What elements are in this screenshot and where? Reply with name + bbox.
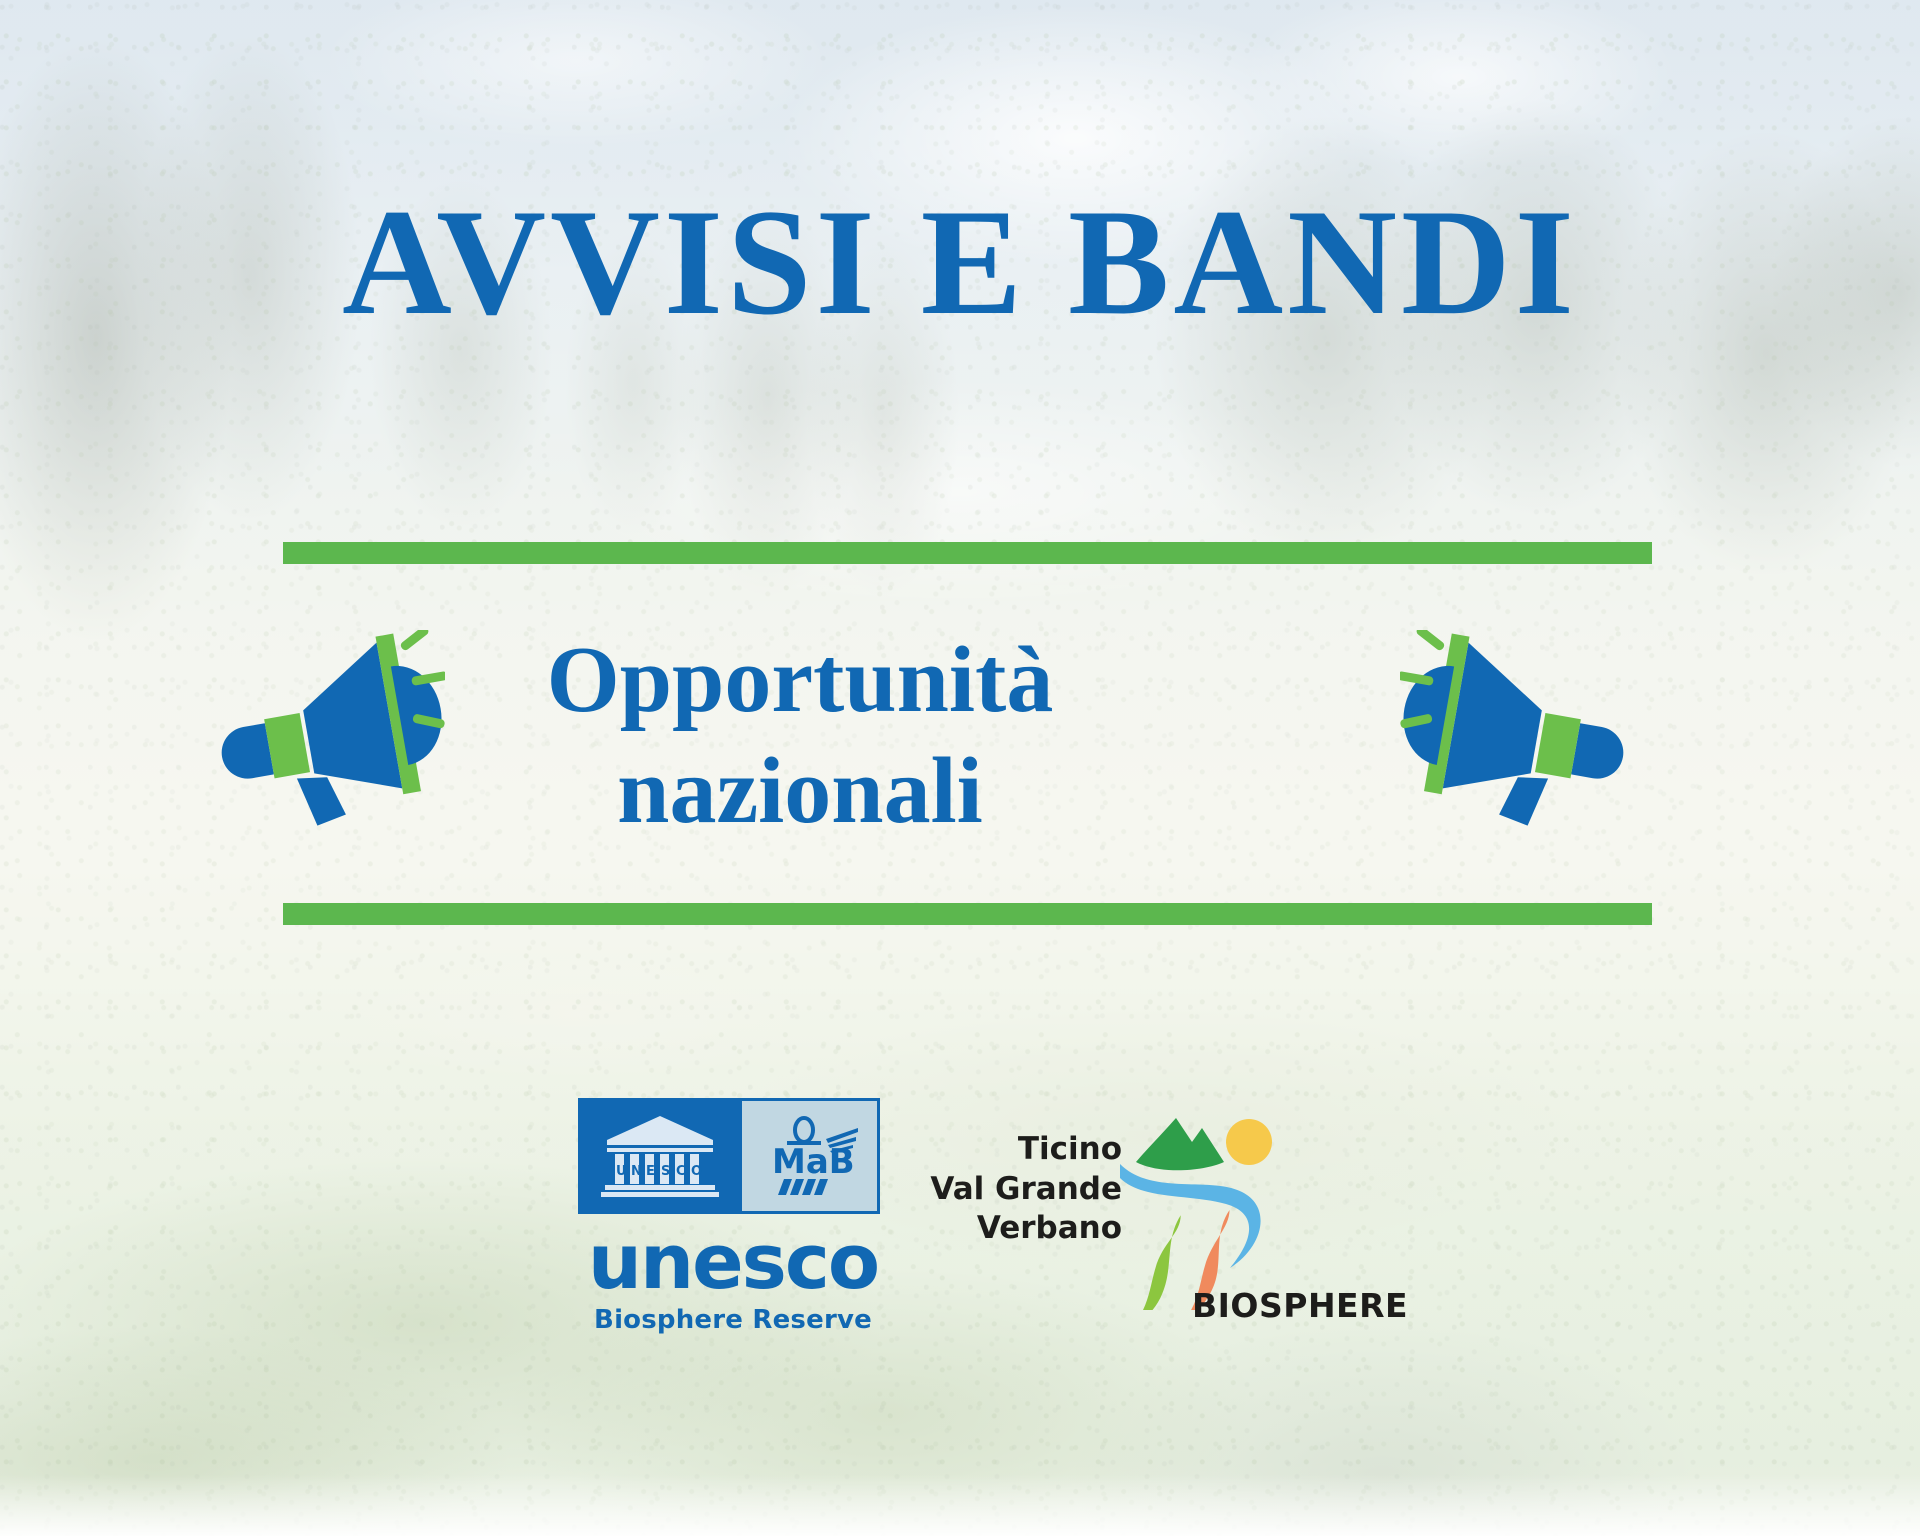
divider-rule-top <box>283 542 1652 564</box>
megaphone-right-icon <box>1400 630 1630 835</box>
svg-text:E: E <box>646 1164 655 1179</box>
unesco-temple-cell: UNE SCO <box>581 1101 739 1211</box>
logo-strip: UNE SCO <box>0 1098 1920 1348</box>
tvgv-wordmark: Ticino Val Grande Verbano <box>930 1130 1122 1249</box>
unesco-temple-icon: UNE SCO <box>601 1112 719 1200</box>
emblem-ribbon-green <box>1121 1215 1181 1310</box>
megaphone-left-icon <box>215 630 445 835</box>
emblem-sun <box>1226 1119 1272 1165</box>
tvgv-biosphere-label: BIOSPHERE <box>1192 1286 1408 1325</box>
mab-cell: MaB <box>739 1101 877 1211</box>
unesco-wordmark: unesco <box>578 1226 888 1299</box>
mab-icon: MaB <box>754 1111 866 1201</box>
ticino-val-grande-verbano-logo: Ticino Val Grande Verbano <box>930 1108 1360 1338</box>
emblem-river <box>1120 1164 1261 1268</box>
page-subtitle: Opportunità nazionali <box>520 625 1080 847</box>
svg-text:S: S <box>661 1164 670 1179</box>
poster-canvas: AVVISI E BANDI <box>0 0 1920 1536</box>
tvgv-line-2: Val Grande <box>930 1170 1122 1210</box>
svg-text:C: C <box>676 1164 686 1179</box>
page-title: AVVISI E BANDI <box>0 186 1920 338</box>
emblem-mountain <box>1136 1118 1224 1170</box>
svg-text:MaB: MaB <box>772 1142 855 1182</box>
unesco-logo: UNE SCO <box>578 1098 888 1335</box>
tvgv-line-3: Verbano <box>930 1209 1122 1249</box>
subtitle-line-1: Opportunità <box>547 628 1054 732</box>
unesco-tagline: Biosphere Reserve <box>578 1305 888 1335</box>
svg-text:U: U <box>616 1164 627 1179</box>
svg-text:O: O <box>691 1164 702 1179</box>
svg-text:N: N <box>631 1164 642 1179</box>
unesco-emblem-frame: UNE SCO <box>578 1098 880 1214</box>
subtitle-line-2: nazionali <box>520 736 1080 847</box>
divider-rule-bottom <box>283 903 1652 925</box>
tvgv-emblem-icon <box>1118 1100 1318 1315</box>
tvgv-line-1: Ticino <box>930 1130 1122 1170</box>
